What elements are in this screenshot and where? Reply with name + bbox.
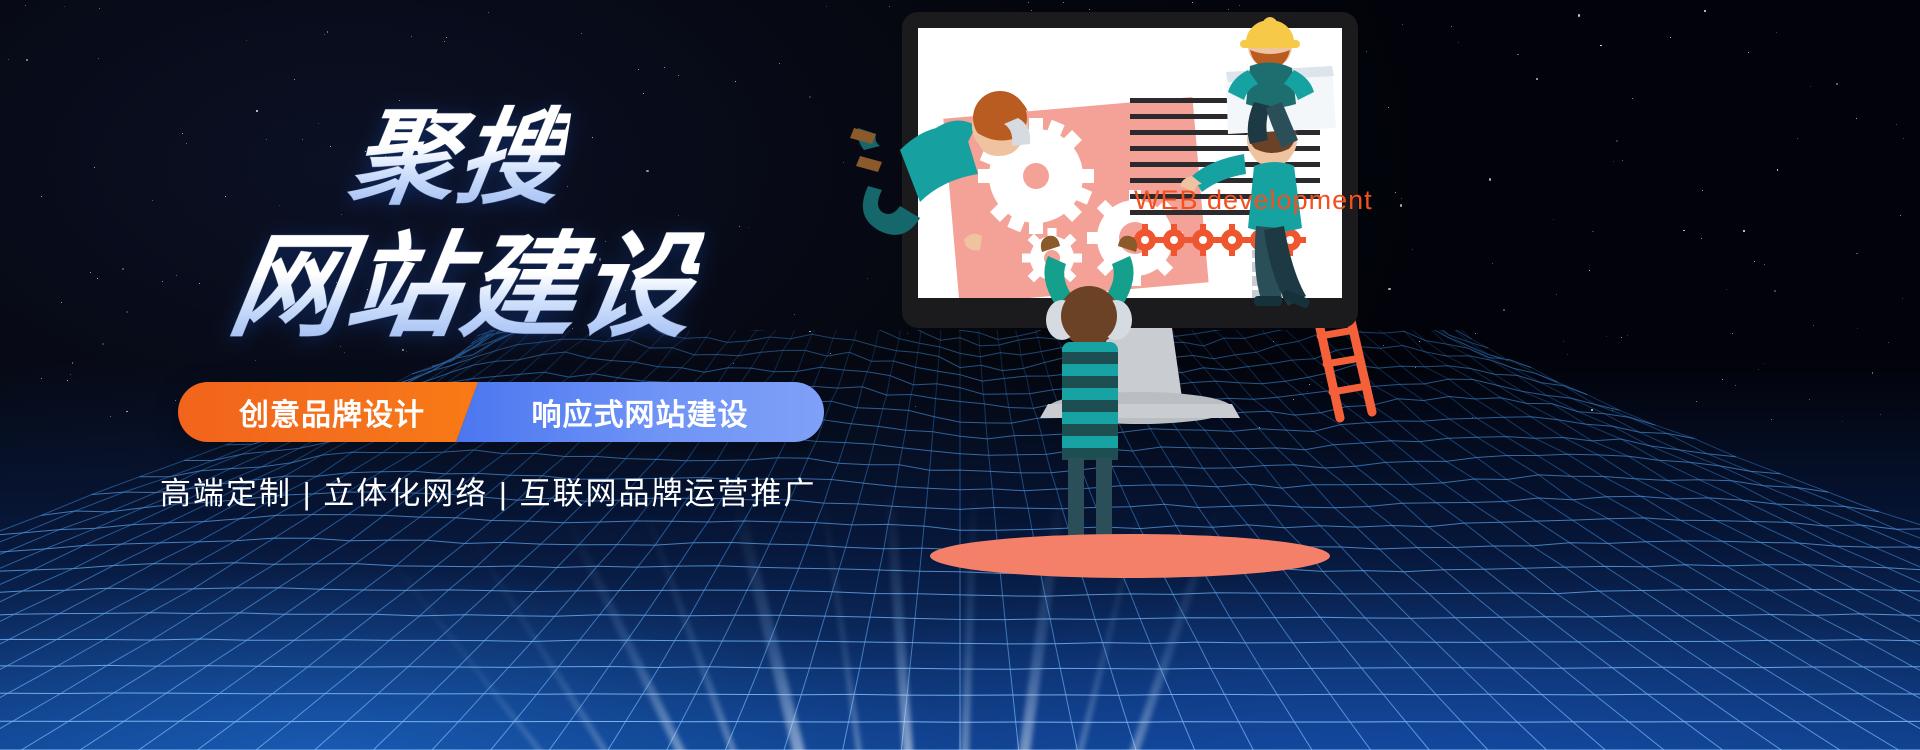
hero-banner: 聚搜 网站建设 创意品牌设计 响应式网站建设 高端定制 | 立体化网络 | 互联… — [0, 0, 1920, 750]
ground-shadow — [930, 534, 1330, 578]
service-pill: 创意品牌设计 响应式网站建设 — [178, 382, 824, 442]
headline-secondary: 网站建设 — [222, 228, 705, 348]
tagline: 高端定制 | 立体化网络 | 互联网品牌运营推广 — [160, 468, 840, 513]
headline-primary: 聚搜 — [343, 104, 572, 214]
pill-label-design: 创意品牌设计 — [239, 390, 425, 434]
pill-label-responsive: 响应式网站建设 — [532, 390, 749, 434]
screen-title: WEB development — [1134, 185, 1373, 216]
pill-segment-responsive[interactable]: 响应式网站建设 — [456, 382, 824, 442]
pill-segment-design[interactable]: 创意品牌设计 — [178, 382, 478, 442]
monitor-illustration — [840, 0, 1480, 750]
copy-block: 聚搜 网站建设 创意品牌设计 响应式网站建设 高端定制 | 立体化网络 | 互联… — [0, 0, 900, 750]
